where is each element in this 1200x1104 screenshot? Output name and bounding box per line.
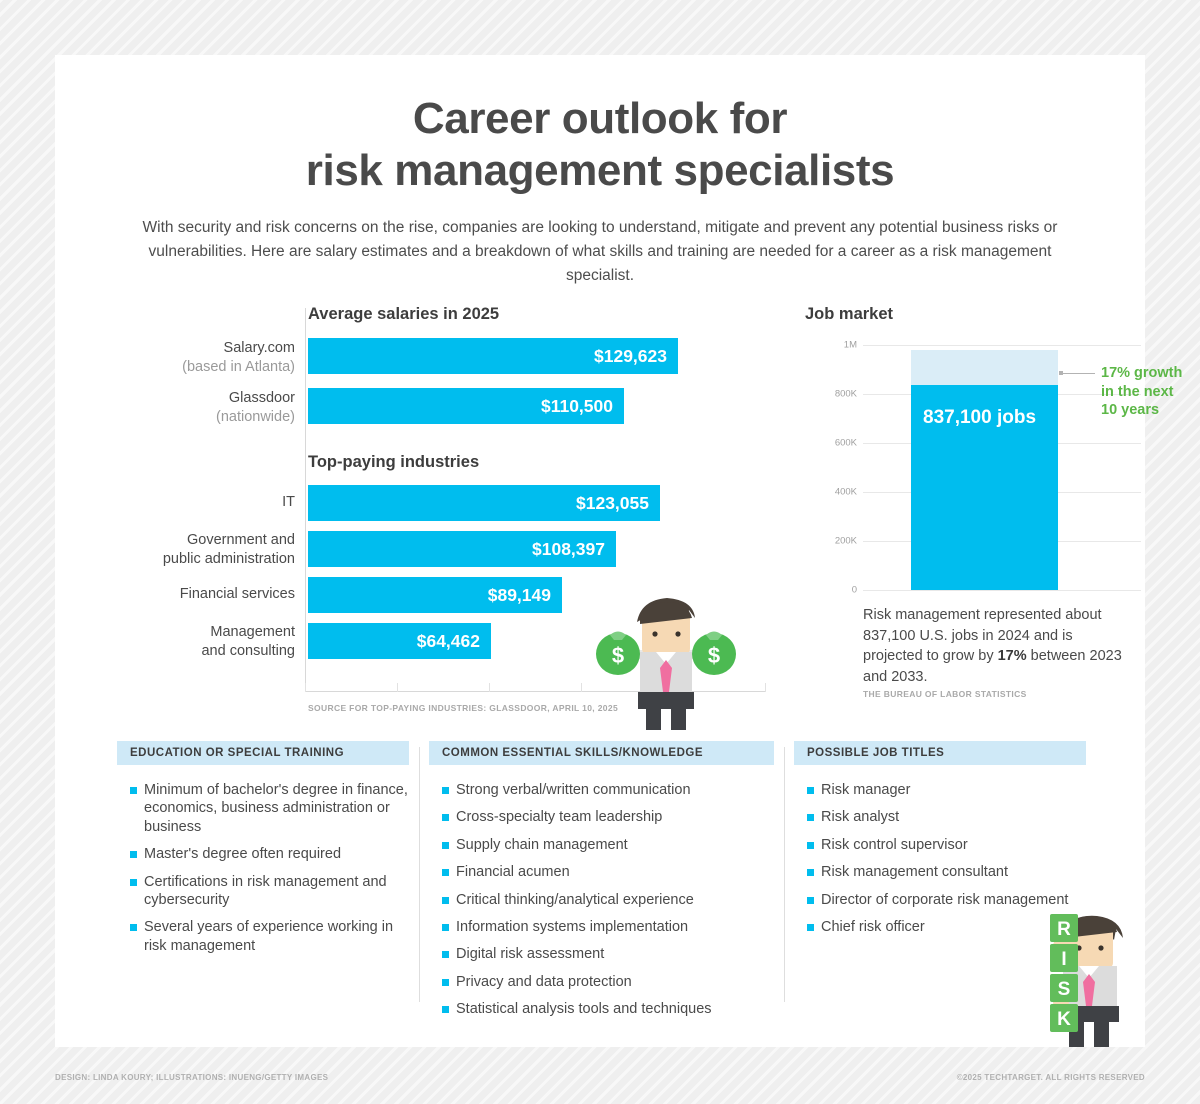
svg-text:K: K <box>1057 1009 1071 1030</box>
column-heading: POSSIBLE JOB TITLES <box>794 741 1086 765</box>
industry-bar-financial: $89,149 <box>308 577 562 613</box>
column-heading: COMMON ESSENTIAL SKILLS/KNOWLEDGE <box>429 741 774 765</box>
list-item: Master's degree often required <box>130 845 409 863</box>
list-item: Minimum of bachelor's degree in finance,… <box>130 781 409 836</box>
businessman-with-money-bags-illustration: $ $ <box>590 590 742 730</box>
page-title-line-2: risk management specialists <box>55 145 1145 197</box>
industries-source-note: SOURCE FOR TOP-PAYING INDUSTRIES: GLASSD… <box>308 703 618 713</box>
job-market-source-note: THE BUREAU OF LABOR STATISTICS <box>863 689 1027 699</box>
list-item: Risk management consultant <box>807 863 1086 881</box>
skills-list: Strong verbal/written communication Cros… <box>429 765 774 1019</box>
industry-bar-value: $108,397 <box>532 539 616 560</box>
axis-tick <box>765 683 766 692</box>
industry-bar-label-line: and consulting <box>95 642 295 661</box>
footer-credits: DESIGN: LINDA KOURY; ILLUSTRATIONS: INUE… <box>55 1073 328 1082</box>
industry-bar-label-line: Government and <box>187 532 295 548</box>
growth-annotation-line-2: in the next <box>1101 383 1182 402</box>
ytick-label-200k: 200K <box>797 536 857 547</box>
list-item: Several years of experience working in r… <box>130 918 409 955</box>
list-item: Information systems implementation <box>442 918 774 936</box>
column-education: EDUCATION OR SPECIAL TRAINING Minimum of… <box>117 741 409 964</box>
salary-bar-label-sub: (nationwide) <box>95 408 295 427</box>
svg-text:I: I <box>1061 949 1066 970</box>
industry-bar-government: $108,397 <box>308 531 616 567</box>
axis-tick <box>489 683 490 692</box>
list-item: Privacy and data protection <box>442 973 774 991</box>
job-market-plot: 0 200K 400K 600K 800K 1M 837,100 jobs 17… <box>863 345 1141 590</box>
column-divider <box>419 747 420 1002</box>
list-item: Cross-specialty team leadership <box>442 808 774 826</box>
salary-bar-glassdoor: $110,500 <box>308 388 624 424</box>
industry-bar-label-line: Management <box>210 624 295 640</box>
list-item: Digital risk assessment <box>442 945 774 963</box>
svg-text:S: S <box>1058 979 1071 1000</box>
industry-bar-value: $123,055 <box>576 493 660 514</box>
projected-growth-segment <box>911 350 1058 385</box>
axis-tick <box>305 683 306 692</box>
job-market-title: Job market <box>805 305 1145 324</box>
caption-bold: 17% <box>998 648 1027 664</box>
ytick-label-0: 0 <box>797 585 857 596</box>
salary-bar-salarycom: $129,623 <box>308 338 678 374</box>
industry-bar-management: $64,462 <box>308 623 491 659</box>
list-item: Risk control supervisor <box>807 836 1086 854</box>
list-item: Financial acumen <box>442 863 774 881</box>
column-divider <box>784 747 785 1002</box>
axis-tick <box>397 683 398 692</box>
salary-bar-label: Salary.com (based in Atlanta) <box>95 339 295 376</box>
page-title-line-1: Career outlook for <box>413 94 787 143</box>
ytick-label-600k: 600K <box>797 438 857 449</box>
industry-bar-label: Management and consulting <box>95 623 295 660</box>
growth-annotation-line-3: 10 years <box>1101 401 1182 420</box>
industry-bar-it: $123,055 <box>308 485 660 521</box>
industry-bar-label: Government and public administration <box>95 531 295 568</box>
top-paying-industries-title: Top-paying industries <box>308 453 479 472</box>
page-subtitle: With security and risk concerns on the r… <box>55 216 1145 288</box>
salary-bar-value: $110,500 <box>541 396 624 417</box>
salary-bar-value: $129,623 <box>594 346 678 367</box>
footer-copyright: ©2025 TECHTARGET. ALL RIGHTS RESERVED <box>957 1073 1145 1082</box>
list-item: Critical thinking/analytical experience <box>442 891 774 909</box>
svg-text:R: R <box>1057 919 1071 940</box>
industry-bar-label-line: IT <box>282 494 295 510</box>
industry-bar-value: $64,462 <box>417 631 491 652</box>
category-axis-line <box>305 308 306 691</box>
list-item: Risk manager <box>807 781 1086 799</box>
salary-bar-label: Glassdoor (nationwide) <box>95 389 295 426</box>
column-heading: EDUCATION OR SPECIAL TRAINING <box>117 741 409 765</box>
salary-bar-label-main: Salary.com <box>224 340 295 356</box>
list-item: Supply chain management <box>442 836 774 854</box>
growth-annotation: 17% growth in the next 10 years <box>1101 364 1182 420</box>
salary-bar-label-main: Glassdoor <box>229 390 295 406</box>
education-list: Minimum of bachelor's degree in finance,… <box>117 765 409 955</box>
svg-text:$: $ <box>612 643 624 668</box>
salary-bar-label-sub: (based in Atlanta) <box>95 358 295 377</box>
risk-blocks-character-illustration: R I S K <box>995 910 1145 1047</box>
list-item: Director of corporate risk management <box>807 891 1086 909</box>
gridline-1m <box>863 345 1141 346</box>
ytick-label-400k: 400K <box>797 487 857 498</box>
infographic-card: Career outlook for risk management speci… <box>55 55 1145 1047</box>
list-item: Strong verbal/written communication <box>442 781 774 799</box>
growth-annotation-line-1: 17% growth <box>1101 364 1182 383</box>
annotation-leader-line <box>1063 373 1095 374</box>
ytick-label-800k: 800K <box>797 389 857 400</box>
svg-text:$: $ <box>708 643 720 668</box>
axis-tick <box>581 683 582 692</box>
industry-bar-label-line: public administration <box>95 550 295 569</box>
list-item: Certifications in risk management and cy… <box>130 873 409 910</box>
page-title: Career outlook for risk management speci… <box>55 55 1145 197</box>
job-market-caption: Risk management represented about 837,10… <box>863 605 1135 687</box>
average-salaries-title: Average salaries in 2025 <box>308 305 499 324</box>
job-market-bar-value: 837,100 jobs <box>923 407 1036 429</box>
industry-bar-label-line: Financial services <box>180 586 295 602</box>
ytick-label-1m: 1M <box>797 340 857 351</box>
industry-bar-label: Financial services <box>95 585 295 604</box>
list-item: Statistical analysis tools and technique… <box>442 1000 774 1018</box>
industry-bar-value: $89,149 <box>488 585 562 606</box>
list-item: Risk analyst <box>807 808 1086 826</box>
gridline-0 <box>863 590 1141 591</box>
industry-bar-label: IT <box>95 493 295 512</box>
column-skills: COMMON ESSENTIAL SKILLS/KNOWLEDGE Strong… <box>429 741 774 1028</box>
job-market-chart: Job market 0 200K 400K 600K 800K 1M <box>805 305 1145 324</box>
